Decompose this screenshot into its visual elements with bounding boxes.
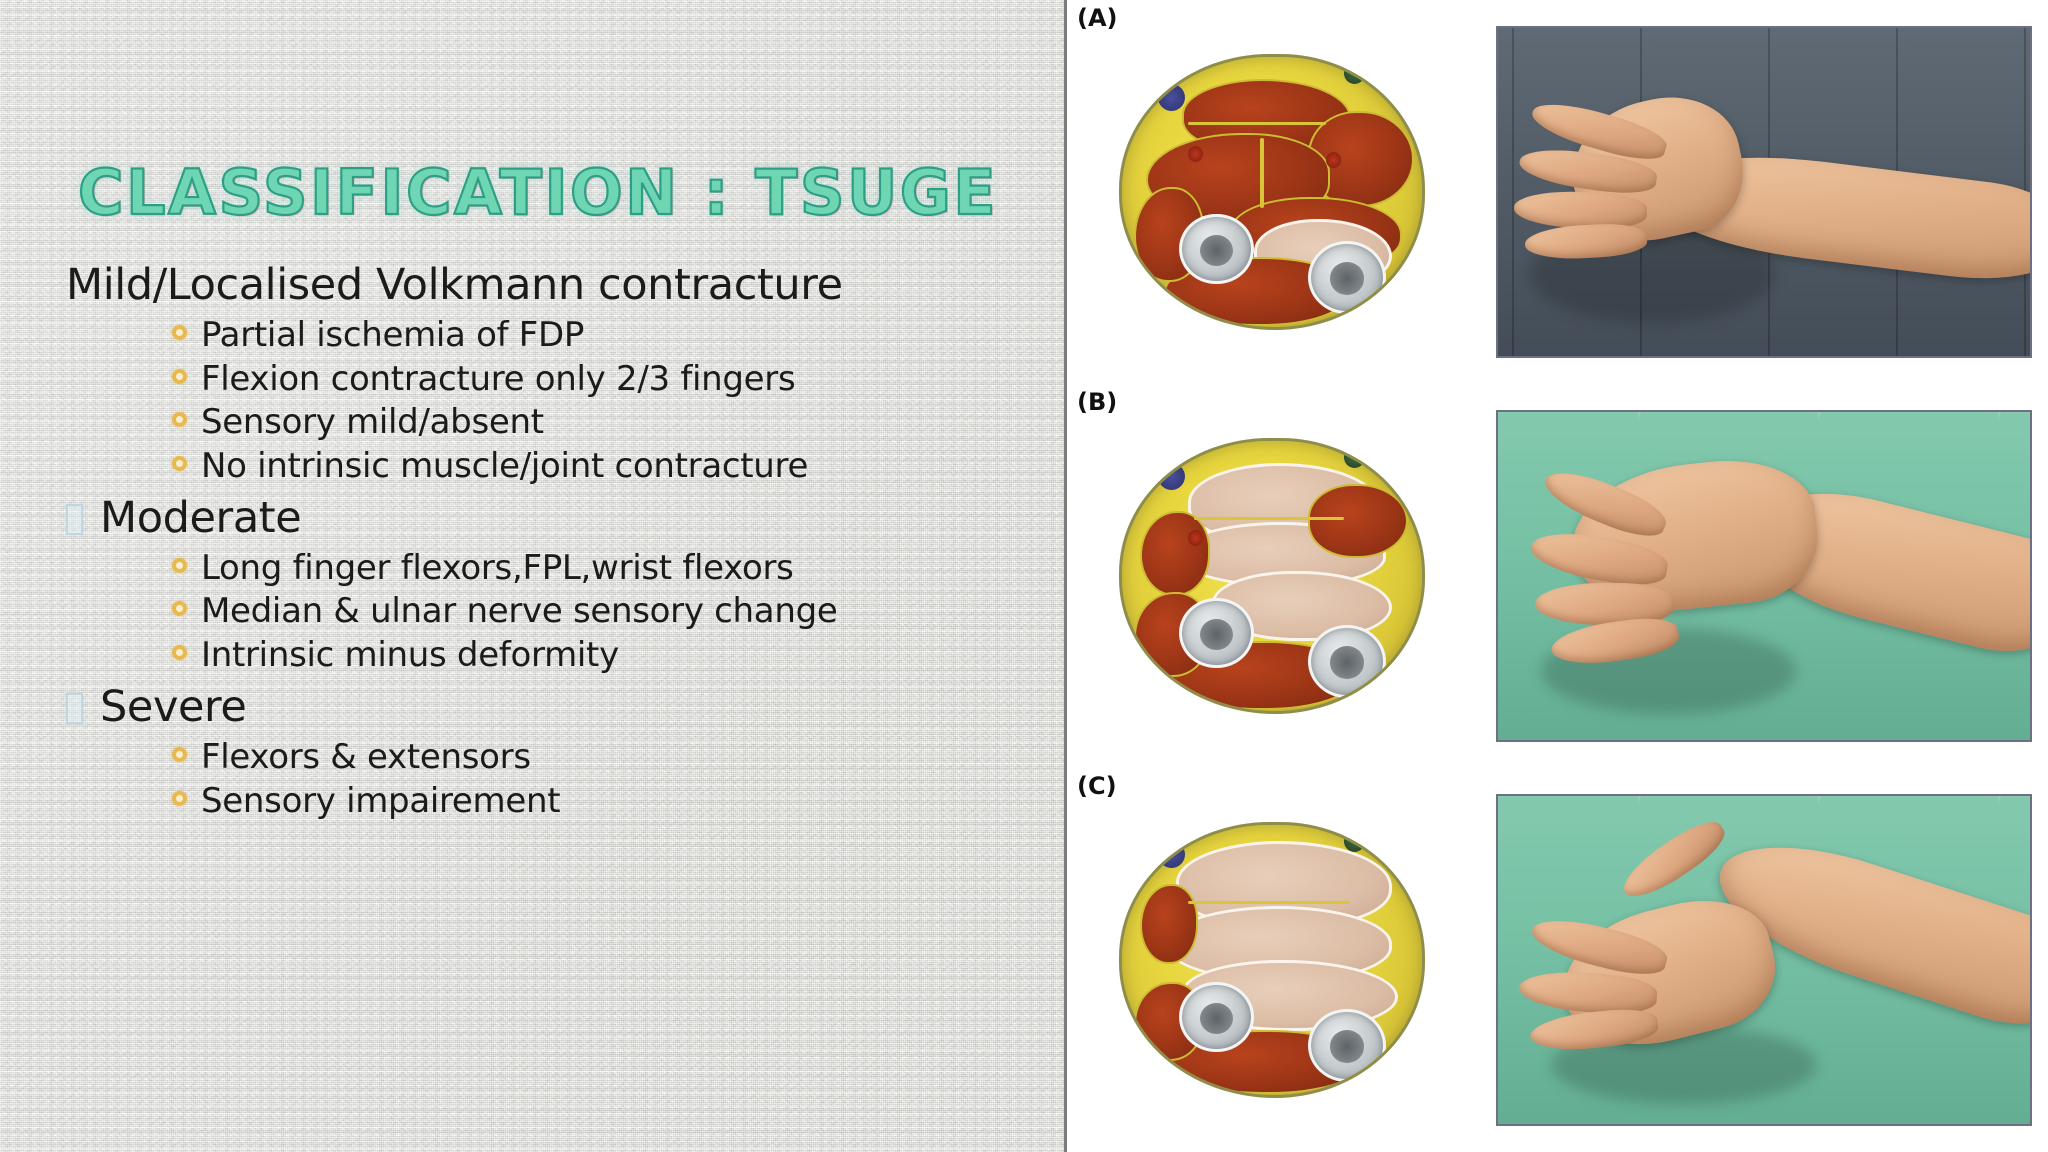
circle-bullet-icon [172,601,187,616]
list-item: Sensory impairement [66,781,1026,822]
circle-bullet-icon [172,369,187,384]
list-item: Flexors & extensors [66,737,1026,778]
section-heading-moderate: Moderate [66,493,1026,544]
circle-bullet-icon [172,791,187,806]
section-heading-label: Severe [100,682,246,733]
forearm-cross-section-icon [1119,54,1425,330]
list-item-label: Flexion contracture only 2/3 fingers [201,359,795,400]
circle-bullet-icon [172,325,187,340]
circle-bullet-icon [172,747,187,762]
text-pane: CLASSIFICATION : TSUGE Mild/Localised Vo… [0,0,1064,1152]
forearm-cross-section-icon [1119,822,1425,1098]
circle-bullet-icon [172,456,187,471]
list-item-label: Long finger flexors,FPL,wrist flexors [201,548,794,589]
slide-root: CLASSIFICATION : TSUGE Mild/Localised Vo… [0,0,2048,1152]
list-item: Flexion contracture only 2/3 fingers [66,359,1026,400]
section-moderate: Moderate Long finger flexors,FPL,wrist f… [66,493,1026,676]
bullet-group-severe: Flexors & extensors Sensory impairement [66,737,1026,822]
cross-section-illustration-b [1067,384,1477,768]
list-item-label: No intrinsic muscle/joint contracture [201,446,808,487]
list-item: Sensory mild/absent [66,402,1026,443]
list-item-label: Median & ulnar nerve sensory change [201,591,837,632]
list-item: Partial ischemia of FDP [66,315,1026,356]
section-severe: Severe Flexors & extensors Sensory impai… [66,682,1026,821]
list-item-label: Sensory mild/absent [201,402,544,443]
circle-bullet-icon [172,412,187,427]
list-item: No intrinsic muscle/joint contracture [66,446,1026,487]
section-heading-label: Mild/Localised Volkmann contracture [66,260,843,311]
photo-frame [1496,410,2032,742]
circle-bullet-icon [172,645,187,660]
section-mild: Mild/Localised Volkmann contracture Part… [66,260,1026,487]
forearm-cross-section-icon [1119,438,1425,714]
section-heading-severe: Severe [66,682,1026,733]
circle-bullet-icon [172,558,187,573]
figure-pane: (A) [1064,0,2048,1152]
page-title: CLASSIFICATION : TSUGE [78,162,998,224]
photo-frame [1496,794,2032,1126]
list-item: Intrinsic minus deformity [66,635,1026,676]
cross-section-illustration-c [1067,768,1477,1152]
list-item-label: Partial ischemia of FDP [201,315,584,356]
level1-marker-icon [66,504,100,535]
clinical-photo-b [1477,384,2048,768]
level1-marker-icon [66,693,100,724]
figure-panel-a: (A) [1067,0,2048,384]
list-item: Median & ulnar nerve sensory change [66,591,1026,632]
clinical-photo-c [1477,768,2048,1152]
cross-section-illustration-a [1067,0,1477,384]
list-item: Long finger flexors,FPL,wrist flexors [66,548,1026,589]
list-item-label: Intrinsic minus deformity [201,635,619,676]
figure-panel-c: (C) [1067,768,2048,1152]
bullet-group-moderate: Long finger flexors,FPL,wrist flexors Me… [66,548,1026,676]
section-heading-mild: Mild/Localised Volkmann contracture [66,260,1026,311]
list-item-label: Sensory impairement [201,781,560,822]
section-heading-label: Moderate [100,493,301,544]
figure-label-b: (B) [1077,388,1117,416]
figure-panel-b: (B) [1067,384,2048,768]
photo-frame [1496,26,2032,358]
figure-label-a: (A) [1077,4,1118,32]
bullet-group-mild: Partial ischemia of FDP Flexion contract… [66,315,1026,487]
list-item-label: Flexors & extensors [201,737,531,778]
classification-list: Mild/Localised Volkmann contracture Part… [66,258,1026,827]
figure-label-c: (C) [1077,772,1117,800]
clinical-photo-a [1477,0,2048,384]
